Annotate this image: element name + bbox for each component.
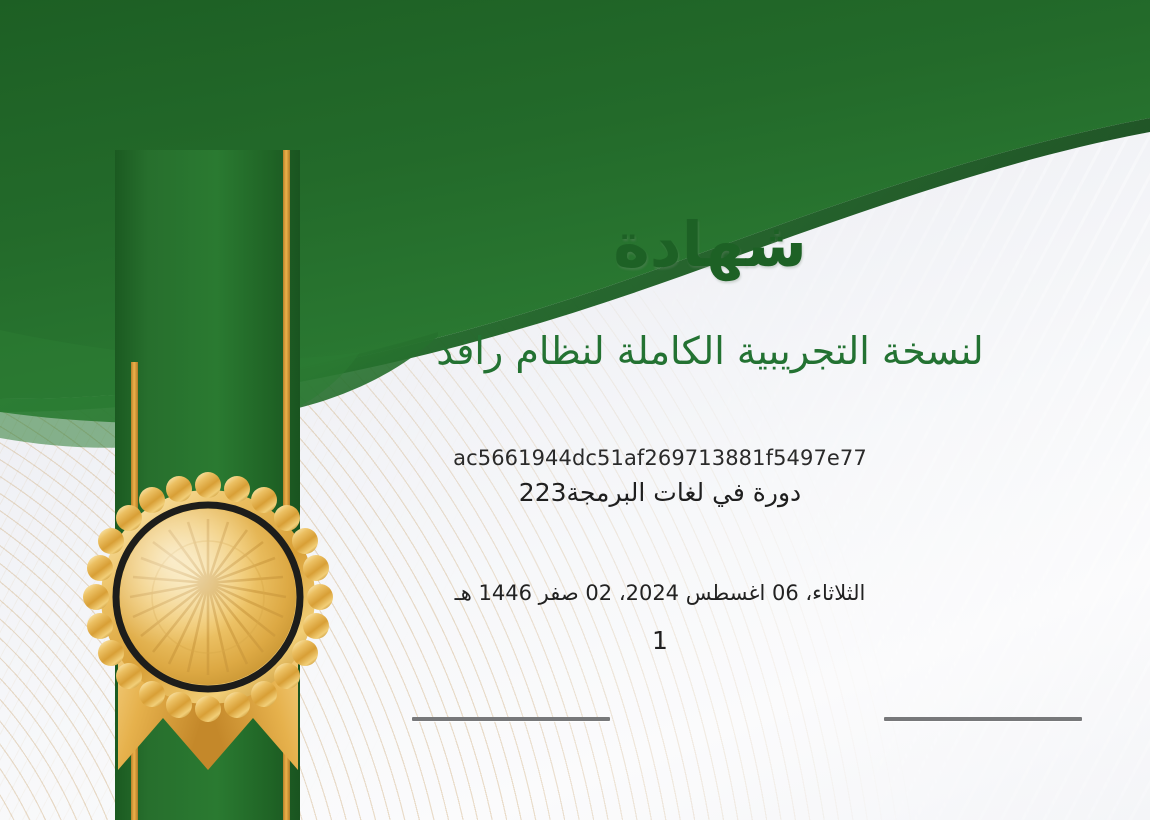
signature-line-right: [884, 717, 1082, 721]
certificate-page: شهادة لنسخة التجريبية الكاملة لنظام رافد…: [0, 0, 1150, 820]
signature-line-left: [412, 717, 610, 721]
certificate-content: شهادة لنسخة التجريبية الكاملة لنظام رافد…: [0, 0, 1150, 820]
certificate-hash: ac5661944dc51af269713881f5497e77: [330, 446, 990, 470]
certificate-date: الثلاثاء، 06 اغسطس 2024، 02 صفر 1446 هـ: [330, 581, 990, 605]
page-title: شهادة: [330, 214, 1090, 276]
certificate-serial: 1: [330, 626, 990, 655]
certificate-subtitle: لنسخة التجريبية الكاملة لنظام رافد: [330, 328, 1090, 376]
course-name: دورة في لغات البرمجة223: [330, 478, 990, 507]
